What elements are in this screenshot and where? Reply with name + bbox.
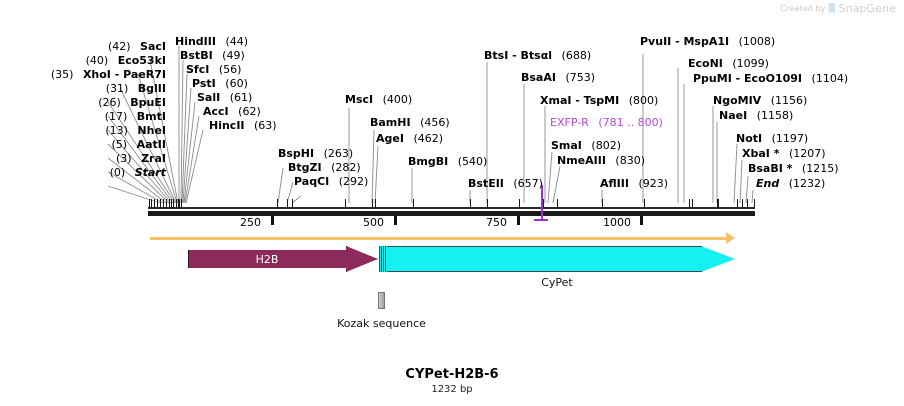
site-name-ppumi-ecoo109i: PpuMI - EcoO109I (693, 72, 802, 85)
site-pos-bglii: (31) (106, 82, 129, 95)
site-label-eco53ki[interactable]: (40) Eco53kI (0, 55, 166, 66)
feature-cypet[interactable]: CyPet (379, 246, 735, 272)
site-label-xmai-tspmi[interactable]: XmaI - TspMI (800) (540, 95, 658, 106)
site-pos-bamhi: (456) (420, 116, 450, 129)
site-name-bmgbi: BmgBI (408, 155, 448, 168)
site-pos-econi: (1099) (732, 57, 769, 70)
site-pos-psti: (60) (225, 77, 248, 90)
ruler-tick-750 (517, 216, 520, 225)
site-label-psti[interactable]: PstI (60) (192, 78, 248, 89)
page-title: CYPet-H2B-6 (0, 367, 904, 382)
site-label-pvuii-mspa1i[interactable]: PvuII - MspA1I (1008) (640, 36, 775, 47)
site-pos-paqci: (292) (339, 175, 369, 188)
site-pos-aatii: (5) (112, 138, 128, 151)
site-name-nmeaiii: NmeAIII (557, 154, 606, 167)
feature-h2b-label: H2B (188, 253, 346, 266)
site-name-bstbi: BstBI (180, 49, 213, 62)
site-pos-saci: (42) (108, 40, 131, 53)
ruler-tick-500 (394, 216, 397, 225)
site-name-start: Start (135, 166, 166, 179)
site-label-bpuei[interactable]: (26) BpuEI (0, 97, 166, 108)
feature-kozak-sequence-label: Kozak sequence (300, 317, 463, 330)
feature-cypet-arrow (379, 246, 735, 272)
site-name-bpuei: BpuEI (130, 96, 166, 109)
site-pos-msci: (400) (383, 93, 413, 106)
site-name-bmti: BmtI (137, 110, 166, 123)
site-label-bamhi[interactable]: BamHI (456) (370, 117, 450, 128)
site-name-econi: EcoNI (688, 57, 723, 70)
site-pos-btsi-btsai: (688) (562, 49, 592, 62)
site-name-paqci: PaqCI (294, 175, 329, 188)
site-name-xhoi-paer7i: XhoI - PaeR7I (83, 68, 166, 81)
site-label-naei[interactable]: NaeI (1158) (719, 110, 793, 121)
site-label-paqci[interactable]: PaqCI (292) (294, 176, 368, 187)
site-name-xbai: XbaI * (742, 147, 779, 160)
site-name-hincii: HincII (209, 119, 245, 132)
site-pos-bsphi: (263) (324, 147, 354, 160)
site-name-end: End (756, 177, 779, 190)
site-label-msci[interactable]: MscI (400) (345, 94, 412, 105)
site-pos-pvuii-mspa1i: (1008) (739, 35, 776, 48)
site-pos-hincii: (63) (254, 119, 277, 132)
site-label-hincii[interactable]: HincII (63) (209, 120, 277, 131)
feature-h2b[interactable]: H2B (188, 246, 378, 272)
site-label-bsphi[interactable]: BspHI (263) (278, 148, 353, 159)
ruler-tick-250 (271, 216, 274, 225)
site-label-bmti[interactable]: (17) BmtI (0, 111, 166, 122)
site-pos-nmeaiii: (830) (615, 154, 645, 167)
site-name-noti: NotI (736, 132, 762, 145)
site-name-ngomiv: NgoMIV (713, 94, 761, 107)
site-name-sfci: SfcI (186, 63, 209, 76)
site-label-sfci[interactable]: SfcI (56) (186, 64, 241, 75)
snapgene-flag-icon (828, 3, 835, 14)
site-label-bmgbi[interactable]: BmgBI (540) (408, 156, 487, 167)
site-label-saci[interactable]: (42) SacI (0, 41, 166, 52)
site-label-agei[interactable]: AgeI (462) (376, 133, 443, 144)
site-label-xbai[interactable]: XbaI * (1207) (742, 148, 826, 159)
site-pos-ngomiv: (1156) (771, 94, 808, 107)
site-pos-btgzi: (282) (331, 161, 361, 174)
primer-exfp-r-stem (541, 211, 543, 220)
site-pos-nhei: (13) (105, 124, 128, 137)
site-label-bsabi[interactable]: BsaBI * (1215) (748, 163, 839, 174)
site-pos-acci: (62) (238, 105, 261, 118)
site-pos-bmgbi: (540) (458, 155, 488, 168)
site-label-btsi-btsai[interactable]: BtsI - Btsαl (688) (484, 50, 591, 61)
site-pos-start: (0) (110, 166, 126, 179)
site-label-xhoi-paer7i[interactable]: (35) XhoI - PaeR7I (0, 69, 166, 80)
site-name-xmai-tspmi: XmaI - TspMI (540, 94, 619, 107)
site-name-msci: MscI (345, 93, 373, 106)
site-name-psti: PstI (192, 77, 216, 90)
site-pos-hindiii: (44) (225, 35, 248, 48)
site-name-nhei: NheI (137, 124, 166, 137)
primer-label-exfp-r[interactable]: EXFP-R (781 .. 800) (550, 117, 663, 128)
plasmid-map: Created by SnapGene (0, 0, 904, 406)
site-label-econi[interactable]: EcoNI (1099) (688, 58, 769, 69)
site-pos-sali: (61) (230, 91, 253, 104)
page-subtitle: 1232 bp (0, 384, 904, 395)
site-name-aatii: AatII (137, 138, 166, 151)
site-name-bsphi: BspHI (278, 147, 314, 160)
site-pos-eco53ki: (40) (86, 54, 109, 67)
site-pos-xbai: (1207) (789, 147, 826, 160)
site-label-nhei[interactable]: (13) NheI (0, 125, 166, 136)
site-pos-end: (1232) (789, 177, 826, 190)
site-pos-agei: (462) (413, 132, 443, 145)
site-name-zrai: ZraI (141, 152, 166, 165)
site-pos-xmai-tspmi: (800) (629, 94, 659, 107)
site-pos-aflii: (923) (638, 177, 668, 190)
site-label-ngomiv[interactable]: NgoMIV (1156) (713, 95, 807, 106)
site-name-naei: NaeI (719, 109, 747, 122)
ruler-label-1000: 1000 (603, 216, 631, 229)
primer-range-exfp-r: (781 .. 800) (598, 116, 663, 129)
site-pos-naei: (1158) (757, 109, 794, 122)
site-label-btgzi[interactable]: BtgZI (282) (288, 162, 361, 173)
site-label-sali[interactable]: SalI (61) (197, 92, 252, 103)
site-label-zrai[interactable]: (3) ZraI (0, 153, 166, 164)
site-label-aflii[interactable]: AflIII (923) (600, 178, 668, 189)
site-name-pvuii-mspa1i: PvuII - MspA1I (640, 35, 729, 48)
site-name-smai: SmaI (551, 139, 582, 152)
site-label-nmeaiii[interactable]: NmeAIII (830) (557, 155, 645, 166)
ruler-tick-1000 (640, 216, 643, 225)
feature-kozak-sequence[interactable] (378, 292, 385, 309)
feature-cypet-start-stripe (379, 246, 387, 272)
site-pos-bsteii: (657) (513, 177, 543, 190)
site-pos-xhoi-paer7i: (35) (51, 68, 74, 81)
site-pos-zrai: (3) (116, 152, 132, 165)
site-label-aatii[interactable]: (5) AatII (0, 139, 166, 150)
site-name-btgzi: BtgZI (288, 161, 322, 174)
feature-cypet-label: CyPet (379, 276, 735, 289)
site-pos-bpuei: (26) (98, 96, 121, 109)
ruler-label-250: 250 (240, 216, 261, 229)
site-label-smai[interactable]: SmaI (802) (551, 140, 621, 151)
site-name-aflii: AflIII (600, 177, 629, 190)
site-pos-noti: (1197) (772, 132, 809, 145)
site-label-noti[interactable]: NotI (1197) (736, 133, 808, 144)
site-pos-sfci: (56) (219, 63, 242, 76)
site-pos-bstbi: (49) (222, 49, 245, 62)
site-label-bstbi[interactable]: BstBI (49) (180, 50, 245, 61)
site-label-start[interactable]: (0) Start (0, 167, 166, 178)
watermark-brand: SnapGene (838, 2, 896, 15)
site-name-bglii: BglII (138, 82, 166, 95)
site-name-btsi-btsai: BtsI - Btsαl (484, 49, 552, 62)
site-label-bsaai[interactable]: BsaAI (753) (521, 72, 595, 83)
site-name-agei: AgeI (376, 132, 404, 145)
snapgene-watermark: Created by SnapGene (780, 2, 896, 15)
site-label-hindiii[interactable]: HindIII (44) (175, 36, 248, 47)
site-label-ppumi-ecoo109i[interactable]: PpuMI - EcoO109I (1104) (693, 73, 848, 84)
backbone-direction-arrow (150, 237, 728, 240)
backbone-direction-arrow-head (726, 232, 735, 244)
site-name-acci: AccI (203, 105, 229, 118)
site-label-acci[interactable]: AccI (62) (203, 106, 261, 117)
site-name-saci: SacI (140, 40, 166, 53)
site-pos-smai: (802) (591, 139, 621, 152)
primer-name-exfp-r: EXFP-R (550, 116, 589, 129)
ruler-label-500: 500 (363, 216, 384, 229)
site-name-sali: SalI (197, 91, 220, 104)
site-label-bsteii[interactable]: BstEII (657) (468, 178, 543, 189)
site-label-bglii[interactable]: (31) BglII (0, 83, 166, 94)
site-name-bsaai: BsaAI (521, 71, 556, 84)
site-pos-bsabi: (1215) (802, 162, 839, 175)
site-label-end[interactable]: End (1232) (756, 178, 825, 189)
site-name-bsabi: BsaBI * (748, 162, 792, 175)
site-name-eco53ki: Eco53kI (118, 54, 166, 67)
site-pos-ppumi-ecoo109i: (1104) (812, 72, 849, 85)
site-pos-bsaai: (753) (565, 71, 595, 84)
watermark-created-by: Created by (780, 4, 825, 13)
site-pos-bmti: (17) (105, 110, 128, 123)
backbone-thin-line (148, 207, 755, 209)
site-name-hindiii: HindIII (175, 35, 216, 48)
site-name-bamhi: BamHI (370, 116, 411, 129)
ruler-label-750: 750 (486, 216, 507, 229)
site-name-bsteii: BstEII (468, 177, 504, 190)
